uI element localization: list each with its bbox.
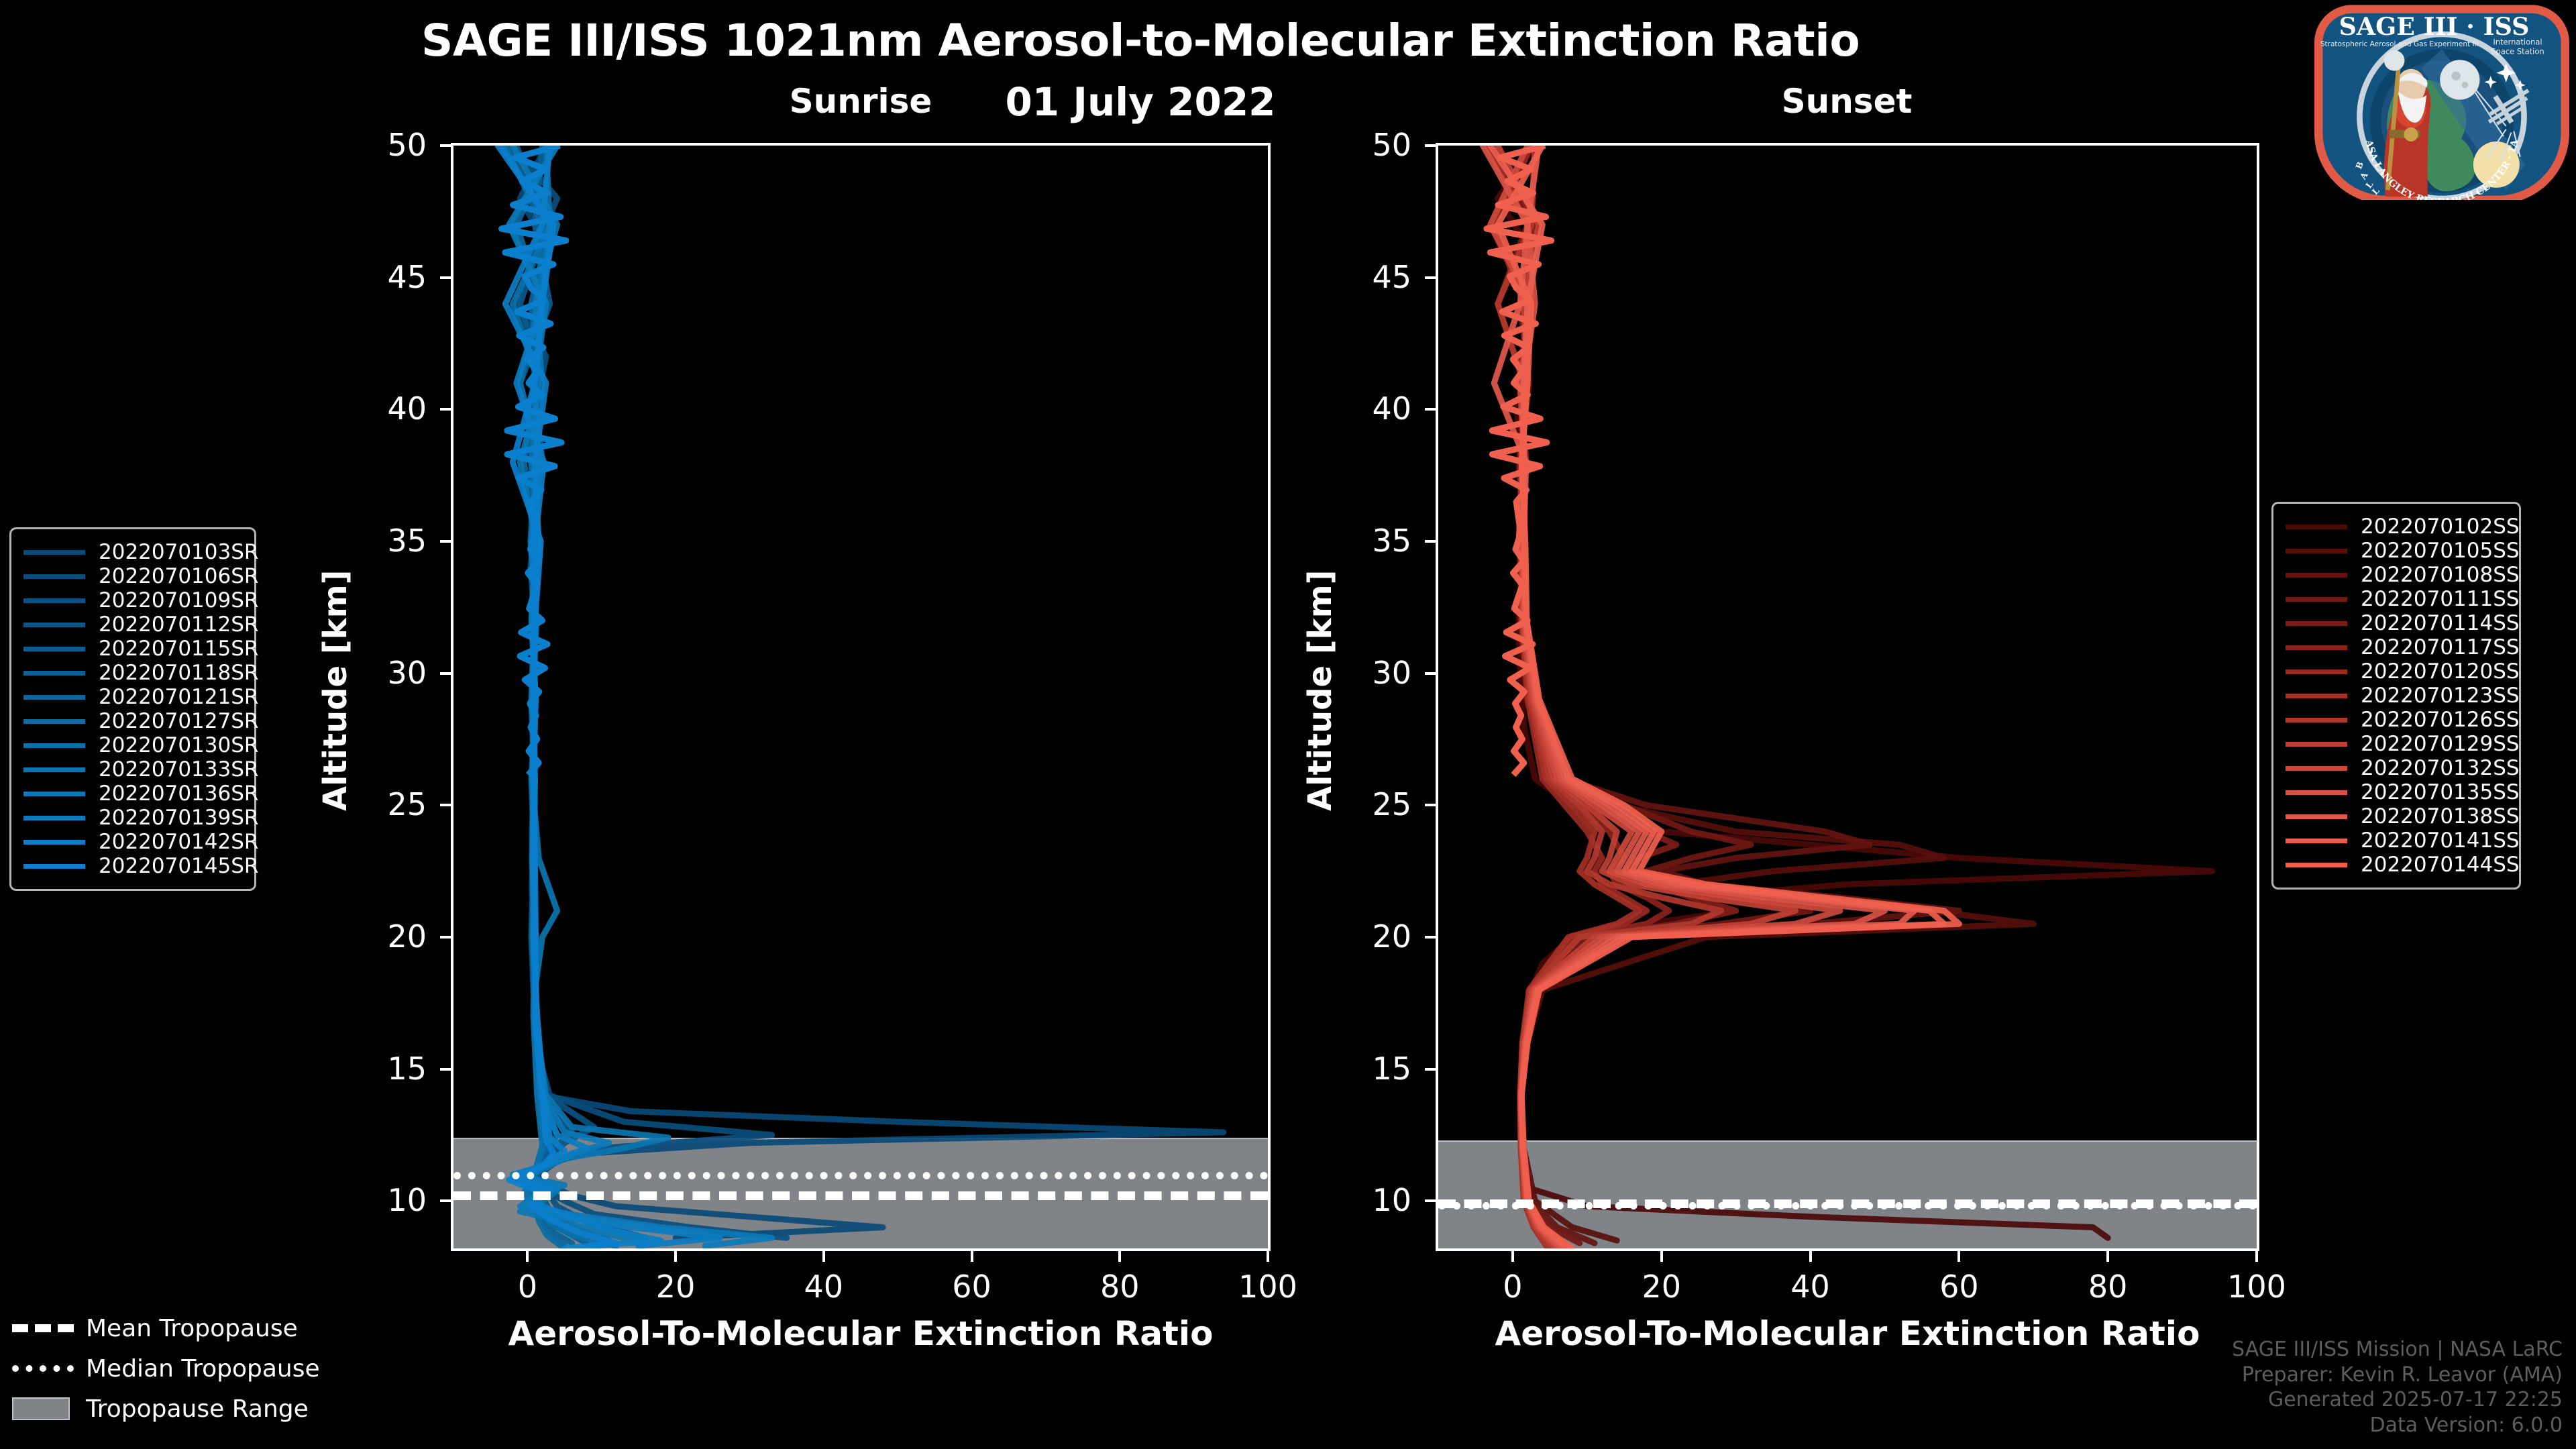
x-tick-mark xyxy=(1267,1251,1269,1262)
x-tick-label: 100 xyxy=(2203,1269,2310,1305)
legend-label: 2022070138SS xyxy=(2361,804,2520,828)
y-tick-label: 20 xyxy=(1331,918,1411,955)
legend-label: 2022070106SR xyxy=(99,564,258,588)
legend-label: 2022070135SS xyxy=(2361,780,2520,804)
legend-label: 2022070145SR xyxy=(99,854,258,878)
y-tick-label: 15 xyxy=(346,1051,427,1087)
x-tick-mark xyxy=(971,1251,973,1262)
legend-label: 2022070102SS xyxy=(2361,515,2520,539)
x-tick-label: 0 xyxy=(1459,1269,1566,1305)
legend-sunset-item[interactable]: 2022070144SS xyxy=(2286,853,2507,877)
legend-color-swatch xyxy=(2286,766,2347,771)
legend-color-swatch xyxy=(23,550,85,555)
key-row-range: Tropopause Range xyxy=(12,1389,347,1429)
legend-sunset-item[interactable]: 2022070102SS xyxy=(2286,515,2507,539)
legend-color-swatch xyxy=(2286,863,2347,867)
legend-label: 2022070126SS xyxy=(2361,708,2520,732)
legend-color-swatch xyxy=(2286,597,2347,602)
legend-label: 2022070112SR xyxy=(99,612,258,637)
legend-label: 2022070120SS xyxy=(2361,659,2520,684)
credit-generated: Generated 2025-07-17 22:25 xyxy=(2232,1387,2563,1413)
series-line xyxy=(1491,146,1840,1246)
y-tick-mark xyxy=(440,804,451,806)
y-tick-label: 15 xyxy=(1331,1051,1411,1087)
key-label-range: Tropopause Range xyxy=(86,1395,309,1423)
legend-color-swatch xyxy=(23,695,85,700)
x-tick-label: 40 xyxy=(770,1269,877,1305)
tropopause-mean-line xyxy=(453,1191,1268,1200)
legend-color-swatch xyxy=(2286,742,2347,747)
x-tick-mark xyxy=(1118,1251,1121,1262)
legend-label: 2022070142SR xyxy=(99,830,258,854)
legend-sunrise-item[interactable]: 2022070130SR xyxy=(23,733,242,757)
legend-label: 2022070103SR xyxy=(99,540,258,564)
legend-label: 2022070129SS xyxy=(2361,732,2520,756)
key-label-mean: Mean Tropopause xyxy=(86,1315,298,1342)
tropopause-mean-line xyxy=(1438,1199,2257,1208)
page-title: SAGE III/ISS 1021nm Aerosol-to-Molecular… xyxy=(0,15,2281,66)
series-line xyxy=(1498,146,1960,1248)
legend-label: 2022070141SS xyxy=(2361,828,2520,853)
y-tick-label: 30 xyxy=(1331,655,1411,691)
x-tick-mark xyxy=(526,1251,529,1262)
y-tick-mark xyxy=(1425,804,1436,806)
series-line xyxy=(1494,146,2033,1240)
legend-color-swatch xyxy=(23,816,85,820)
y-tick-label: 50 xyxy=(346,127,427,163)
y-tick-mark xyxy=(440,144,451,147)
legend-color-swatch xyxy=(2286,814,2347,819)
y-tick-label: 30 xyxy=(346,655,427,691)
y-tick-mark xyxy=(440,672,451,675)
legend-label: 2022070109SR xyxy=(99,588,258,612)
y-tick-label: 45 xyxy=(1331,259,1411,295)
legend-color-swatch xyxy=(2286,694,2347,698)
x-tick-label: 60 xyxy=(1905,1269,2012,1305)
series-layer xyxy=(453,146,1268,1248)
series-line xyxy=(1491,146,1960,1243)
x-tick-mark xyxy=(1957,1251,1960,1262)
legend-sunrise-item[interactable]: 2022070118SR xyxy=(23,661,242,685)
dotted-line-icon xyxy=(12,1365,74,1372)
credit-version: Data Version: 6.0.0 xyxy=(2232,1413,2563,1438)
panel-title-sunrise: Sunrise xyxy=(659,82,1062,121)
dashed-line-icon xyxy=(12,1324,74,1332)
panel-title-sunset: Sunset xyxy=(1646,82,2048,121)
y-tick-mark xyxy=(1425,408,1436,411)
legend-sunrise-item[interactable]: 2022070139SR xyxy=(23,806,242,830)
mission-patch-icon: B A L L SAGE III · ISS Stratospheric Aer… xyxy=(2313,4,2571,200)
y-tick-label: 35 xyxy=(346,523,427,559)
legend-sunrise-item[interactable]: 2022070142SR xyxy=(23,830,242,854)
legend-sunrise-item[interactable]: 2022070127SR xyxy=(23,709,242,733)
y-tick-mark xyxy=(440,276,451,279)
series-line xyxy=(1483,146,1885,1248)
legend-color-swatch xyxy=(2286,669,2347,674)
x-tick-mark xyxy=(1809,1251,1812,1262)
x-tick-mark xyxy=(822,1251,825,1262)
legend-label: 2022070111SS xyxy=(2361,587,2520,611)
legend-color-swatch xyxy=(23,719,85,724)
x-tick-mark xyxy=(2255,1251,2258,1262)
legend-label: 2022070118SR xyxy=(99,661,258,685)
legend-color-swatch xyxy=(23,671,85,676)
credits-block: SAGE III/ISS Mission | NASA LaRC Prepare… xyxy=(2232,1337,2563,1438)
legend-color-swatch xyxy=(2286,525,2347,529)
legend-color-swatch xyxy=(23,792,85,796)
x-tick-label: 80 xyxy=(1066,1269,1173,1305)
series-line xyxy=(1498,146,2212,1238)
legend-sunset-item[interactable]: 2022070117SS xyxy=(2286,635,2507,659)
filled-band-icon xyxy=(12,1397,74,1420)
legend-label: 2022070132SS xyxy=(2361,756,2520,780)
legend-label: 2022070123SS xyxy=(2361,684,2520,708)
x-tick-label: 40 xyxy=(1757,1269,1864,1305)
legend-sunrise-item[interactable]: 2022070121SR xyxy=(23,685,242,709)
tropopause-key: Mean Tropopause Median Tropopause Tropop… xyxy=(12,1308,347,1429)
plot-area-sunrise xyxy=(451,143,1271,1251)
legend-sunrise-item[interactable]: 2022070112SR xyxy=(23,612,242,637)
legend-label: 2022070117SS xyxy=(2361,635,2520,659)
legend-color-swatch xyxy=(23,623,85,627)
y-tick-mark xyxy=(1425,1068,1436,1071)
legend-sunset-item[interactable]: 2022070141SS xyxy=(2286,828,2507,853)
legend-label: 2022070136SR xyxy=(99,782,258,806)
legend-sunset-item[interactable]: 2022070105SS xyxy=(2286,539,2507,563)
sage-iii-iss-logo: B A L L SAGE III · ISS Stratospheric Aer… xyxy=(2313,4,2571,200)
legend-color-swatch xyxy=(23,598,85,603)
x-tick-label: 60 xyxy=(918,1269,1026,1305)
series-line xyxy=(520,146,1224,1238)
key-row-median: Median Tropopause xyxy=(12,1348,347,1389)
y-tick-mark xyxy=(440,1068,451,1071)
y-tick-label: 10 xyxy=(1331,1182,1411,1218)
legend-color-swatch xyxy=(2286,645,2347,650)
legend-color-swatch xyxy=(2286,839,2347,843)
legend-color-swatch xyxy=(23,767,85,772)
legend-sunset-item[interactable]: 2022070114SS xyxy=(2286,611,2507,635)
legend-sunset-item[interactable]: 2022070129SS xyxy=(2286,732,2507,756)
series-line xyxy=(1491,146,1945,1248)
y-tick-mark xyxy=(1425,144,1436,147)
legend-sunset-item[interactable]: 2022070111SS xyxy=(2286,587,2507,611)
tropopause-median-line xyxy=(453,1172,1268,1179)
x-axis-label-sunrise: Aerosol-To-Molecular Extinction Ratio xyxy=(451,1314,1271,1353)
series-layer xyxy=(1438,146,2257,1248)
legend-label: 2022070121SR xyxy=(99,685,258,709)
key-label-median: Median Tropopause xyxy=(86,1355,320,1383)
legend-sunrise[interactable]: 2022070103SR2022070106SR2022070109SR2022… xyxy=(9,527,256,891)
legend-sunrise-item[interactable]: 2022070145SR xyxy=(23,854,242,878)
y-tick-label: 35 xyxy=(1331,523,1411,559)
y-tick-label: 20 xyxy=(346,918,427,955)
legend-sunrise-item[interactable]: 2022070115SR xyxy=(23,637,242,661)
legend-sunset-item[interactable]: 2022070135SS xyxy=(2286,780,2507,804)
legend-sunrise-item[interactable]: 2022070106SR xyxy=(23,564,242,588)
y-tick-mark xyxy=(1425,540,1436,543)
legend-color-swatch xyxy=(2286,549,2347,553)
legend-color-swatch xyxy=(23,864,85,869)
legend-label: 2022070144SS xyxy=(2361,853,2520,877)
legend-sunset[interactable]: 2022070102SS2022070105SS2022070108SS2022… xyxy=(2271,502,2521,890)
y-tick-mark xyxy=(1425,276,1436,279)
logo-subtitle-left: Stratospheric Aerosol and Gas Experiment… xyxy=(2320,40,2479,48)
legend-sunset-item[interactable]: 2022070138SS xyxy=(2286,804,2507,828)
plot-area-sunset xyxy=(1436,143,2259,1251)
legend-sunset-item[interactable]: 2022070120SS xyxy=(2286,659,2507,684)
legend-sunset-item[interactable]: 2022070123SS xyxy=(2286,684,2507,708)
legend-label: 2022070108SS xyxy=(2361,563,2520,587)
y-tick-label: 50 xyxy=(1331,127,1411,163)
y-tick-mark xyxy=(440,936,451,938)
y-tick-mark xyxy=(440,540,451,543)
legend-sunset-item[interactable]: 2022070108SS xyxy=(2286,563,2507,587)
legend-label: 2022070127SR xyxy=(99,709,258,733)
legend-label: 2022070114SS xyxy=(2361,611,2520,635)
x-tick-mark xyxy=(2106,1251,2109,1262)
credit-mission: SAGE III/ISS Mission | NASA LaRC xyxy=(2232,1337,2563,1362)
key-row-mean: Mean Tropopause xyxy=(12,1308,347,1348)
legend-label: 2022070133SR xyxy=(99,757,258,782)
y-tick-mark xyxy=(440,408,451,411)
x-tick-label: 20 xyxy=(1608,1269,1715,1305)
x-tick-mark xyxy=(1511,1251,1514,1262)
y-tick-label: 40 xyxy=(346,390,427,427)
legend-sunrise-item[interactable]: 2022070136SR xyxy=(23,782,242,806)
y-tick-label: 25 xyxy=(1331,786,1411,822)
legend-sunrise-item[interactable]: 2022070103SR xyxy=(23,540,242,564)
x-tick-mark xyxy=(1660,1251,1663,1262)
legend-color-swatch xyxy=(23,743,85,748)
legend-label: 2022070139SR xyxy=(99,806,258,830)
series-line xyxy=(513,146,786,1238)
legend-color-swatch xyxy=(23,574,85,579)
x-tick-label: 20 xyxy=(622,1269,729,1305)
legend-sunset-item[interactable]: 2022070126SS xyxy=(2286,708,2507,732)
legend-color-swatch xyxy=(23,840,85,845)
x-tick-label: 80 xyxy=(2054,1269,2161,1305)
y-tick-mark xyxy=(440,1199,451,1202)
legend-color-swatch xyxy=(2286,621,2347,626)
y-tick-label: 10 xyxy=(346,1182,427,1218)
legend-label: 2022070115SR xyxy=(99,637,258,661)
credit-preparer: Preparer: Kevin R. Leavor (AMA) xyxy=(2232,1362,2563,1388)
y-tick-label: 40 xyxy=(1331,390,1411,427)
legend-color-swatch xyxy=(2286,718,2347,722)
legend-sunset-item[interactable]: 2022070132SS xyxy=(2286,756,2507,780)
y-tick-mark xyxy=(1425,672,1436,675)
legend-color-swatch xyxy=(2286,573,2347,578)
series-line xyxy=(513,146,616,1246)
legend-sunrise-item[interactable]: 2022070133SR xyxy=(23,757,242,782)
x-axis-label-sunset: Aerosol-To-Molecular Extinction Ratio xyxy=(1436,1314,2259,1353)
x-tick-mark xyxy=(674,1251,677,1262)
series-line xyxy=(1498,146,1796,1246)
x-tick-label: 0 xyxy=(474,1269,581,1305)
y-tick-mark xyxy=(1425,1199,1436,1202)
legend-color-swatch xyxy=(23,647,85,651)
legend-label: 2022070105SS xyxy=(2361,539,2520,563)
legend-label: 2022070130SR xyxy=(99,733,258,757)
y-tick-label: 45 xyxy=(346,259,427,295)
y-tick-mark xyxy=(1425,936,1436,938)
legend-sunrise-item[interactable]: 2022070109SR xyxy=(23,588,242,612)
legend-color-swatch xyxy=(2286,790,2347,795)
x-tick-label: 100 xyxy=(1214,1269,1322,1305)
series-line xyxy=(1494,146,1915,1248)
logo-subtitle-right-1: International xyxy=(2493,37,2542,46)
y-tick-label: 25 xyxy=(346,786,427,822)
logo-subtitle-right-2: Space Station xyxy=(2491,47,2544,56)
